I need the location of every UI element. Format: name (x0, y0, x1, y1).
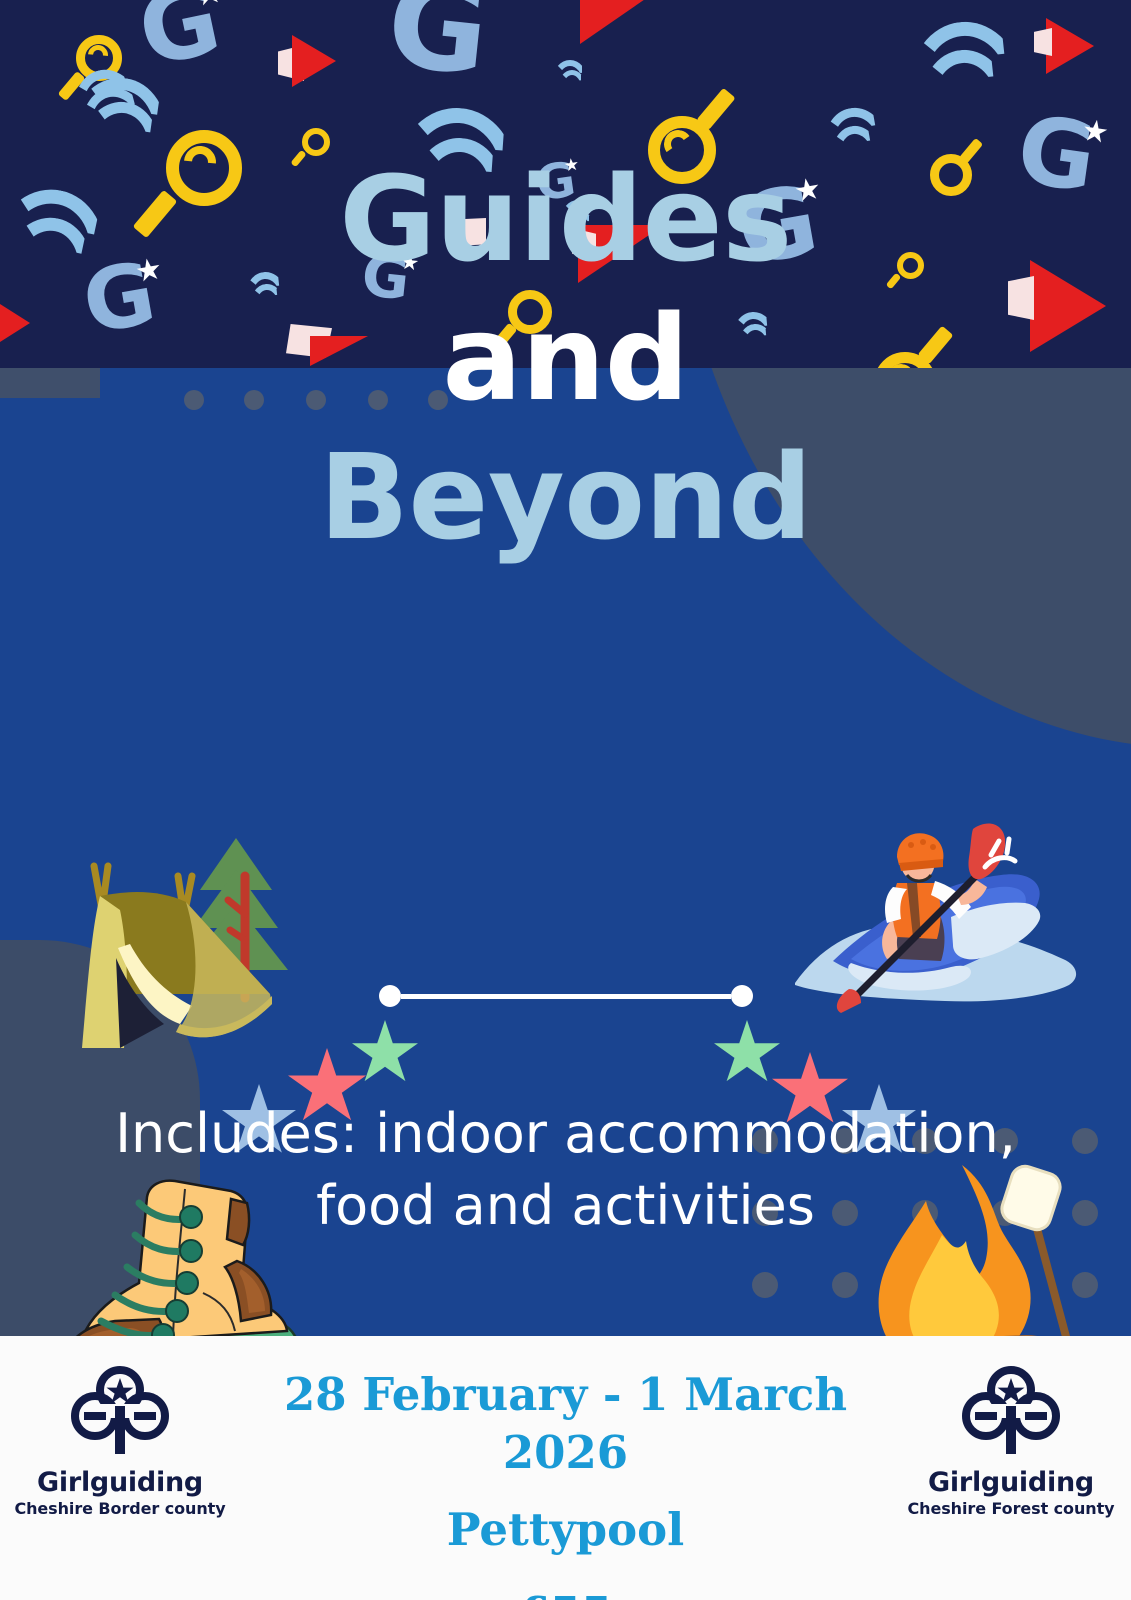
event-details: 28 February - 1 March 2026 Pettypool £55 (256, 1366, 876, 1600)
flag-icon (1034, 28, 1052, 56)
star-icon (714, 1020, 780, 1086)
divider-line (401, 994, 731, 999)
logo-county-left: Cheshire Border county (10, 1499, 230, 1518)
girlguiding-trefoil-icon (70, 1364, 170, 1460)
event-poster: G★ G G★ G★ G★ G★ G★ (0, 0, 1131, 1600)
girlguiding-logo-left: Girlguiding Cheshire Border county (10, 1364, 230, 1518)
logo-county-right: Cheshire Forest county (901, 1499, 1121, 1518)
girlguiding-logo-right: Girlguiding Cheshire Forest county (901, 1364, 1121, 1518)
kayaker-icon (795, 813, 1095, 1013)
poster-title: Guides and Beyond (0, 150, 1131, 568)
subtitle-line-2: food and activities (66, 1170, 1066, 1242)
g-logo-icon: G (382, 0, 489, 93)
poster-footer: Girlguiding Cheshire Border county 28 Fe… (0, 1336, 1131, 1600)
divider-dot-left (379, 985, 401, 1007)
event-venue: Pettypool (256, 1501, 876, 1559)
divider (0, 985, 1131, 1007)
divider-dot-right (731, 985, 753, 1007)
dot (752, 1272, 778, 1298)
title-line-1: Guides (0, 150, 1131, 289)
triangle-icon (580, 0, 664, 44)
event-price: £55 (256, 1585, 876, 1600)
subtitle-line-1: Includes: indoor accommodation, (66, 1098, 1066, 1170)
tent-icon (60, 818, 300, 1068)
event-date: 28 February - 1 March 2026 (256, 1366, 876, 1481)
g-logo-icon: G★ (131, 0, 224, 81)
title-line-3: Beyond (0, 428, 1131, 567)
triangle-icon (1046, 18, 1094, 74)
title-line-2: and (0, 289, 1131, 428)
logo-brand-right: Girlguiding (901, 1467, 1121, 1498)
logo-brand-left: Girlguiding (10, 1467, 230, 1498)
triangle-icon (292, 35, 336, 87)
poster-subtitle: Includes: indoor accommodation, food and… (66, 1098, 1066, 1242)
girlguiding-trefoil-icon (961, 1364, 1061, 1460)
